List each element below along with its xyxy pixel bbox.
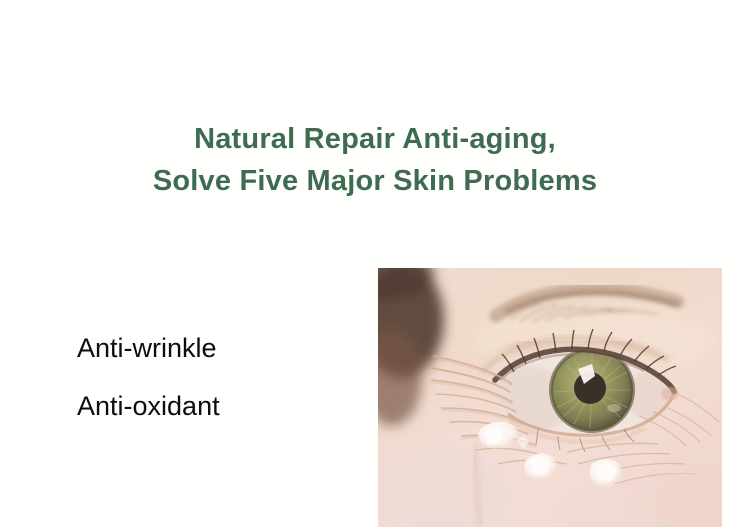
eye-closeup-photo xyxy=(378,268,722,527)
headline-line-2: Solve Five Major Skin Problems xyxy=(0,160,750,202)
promo-banner: Natural Repair Anti-aging, Solve Five Ma… xyxy=(0,0,750,527)
headline-line-1: Natural Repair Anti-aging, xyxy=(0,118,750,160)
benefit-label-anti-oxidant: Anti-oxidant xyxy=(77,390,220,422)
benefit-label-anti-wrinkle: Anti-wrinkle xyxy=(77,332,217,364)
eye-closeup-illustration xyxy=(378,268,722,527)
page-title: Natural Repair Anti-aging, Solve Five Ma… xyxy=(0,118,750,202)
